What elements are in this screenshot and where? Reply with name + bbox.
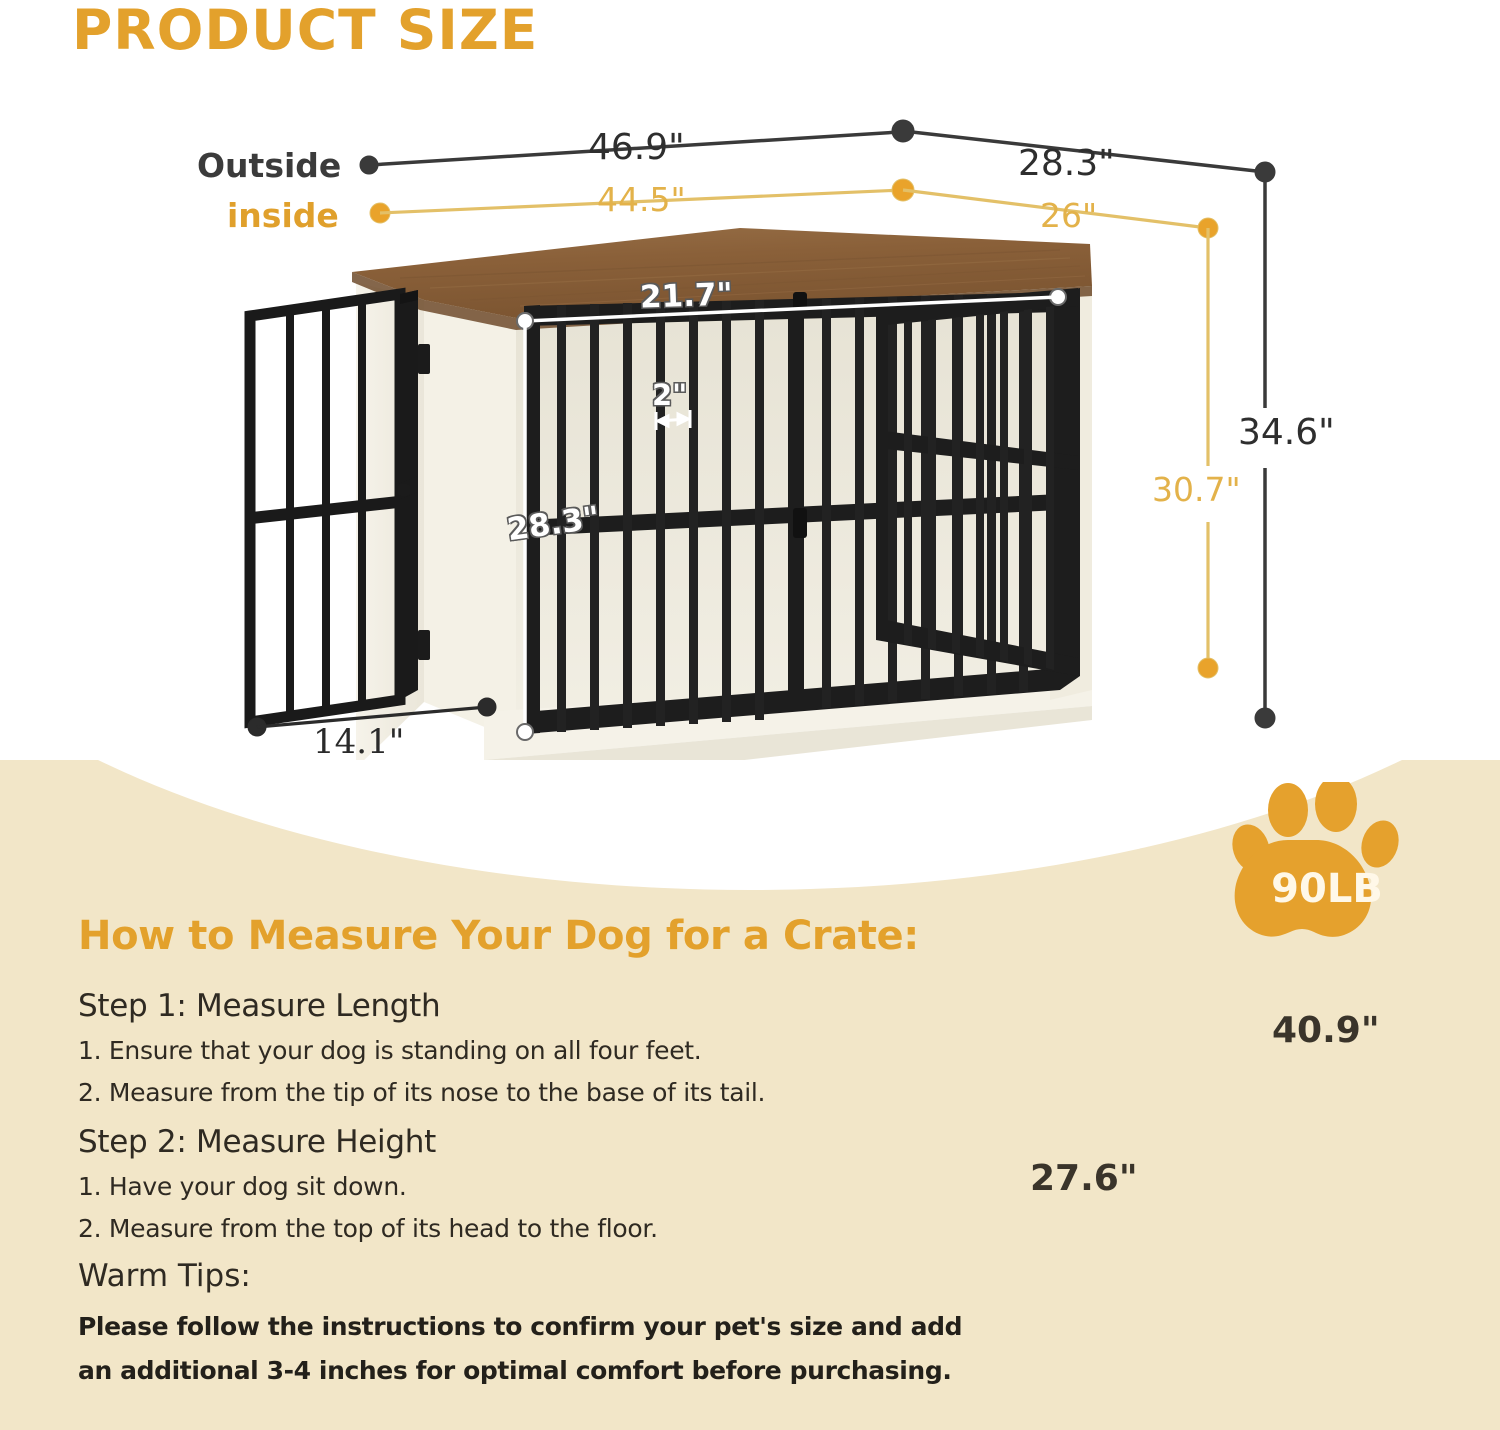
dim-inside-depth: 26" — [1040, 196, 1097, 235]
dim-door-panel-width: 21.7" — [639, 276, 733, 315]
dimension-lines-inside — [370, 179, 1218, 678]
legend-outside-label: Outside — [197, 146, 341, 185]
weight-capacity-badge: 90LB — [1232, 782, 1422, 942]
weight-capacity-label: 90LB — [1232, 866, 1422, 912]
dim-inside-height: 30.7" — [1152, 470, 1241, 509]
crate-front-door-bars — [524, 292, 1060, 734]
dim-door-panel-height: 28.3" — [505, 500, 602, 549]
crate-side-panel-bars — [876, 288, 1080, 690]
warm-tips-title: Warm Tips: — [78, 1258, 251, 1294]
step-1-line-2: 2. Measure from the tip of its nose to t… — [78, 1078, 765, 1107]
step-2-line-1: 1. Have your dog sit down. — [78, 1172, 407, 1201]
warm-tips-line-1: Please follow the instructions to confir… — [78, 1312, 962, 1341]
measure-guide-heading: How to Measure Your Dog for a Crate: — [78, 913, 919, 959]
step-2-title: Step 2: Measure Height — [78, 1124, 436, 1160]
crate-open-door — [250, 290, 430, 722]
dimension-lines-interior — [517, 289, 1066, 740]
dog-length-label: 40.9" — [1272, 1010, 1380, 1051]
step-1-line-1: 1. Ensure that your dog is standing on a… — [78, 1036, 701, 1065]
warm-tips-line-2: an additional 3-4 inches for optimal com… — [78, 1356, 951, 1385]
dog-height-label: 27.6" — [1030, 1158, 1138, 1199]
dim-bar-spacing: 2" — [652, 378, 687, 412]
dimension-lines-outside — [360, 120, 1275, 728]
dim-outside-depth: 28.3" — [1018, 143, 1115, 184]
crate-body — [356, 270, 1092, 800]
page-title: PRODUCT SIZE — [72, 0, 538, 62]
product-size-infographic: PRODUCT SIZE Outside inside — [0, 0, 1500, 1430]
dim-side-door-width: 14.1" — [313, 722, 404, 762]
dim-outside-width: 46.9" — [588, 127, 685, 168]
legend-inside-label: inside — [227, 196, 339, 235]
step-1-title: Step 1: Measure Length — [78, 988, 440, 1024]
step-2-line-2: 2. Measure from the top of its head to t… — [78, 1214, 658, 1243]
paw-print-icon — [1232, 782, 1422, 942]
dim-outside-height: 34.6" — [1238, 412, 1335, 453]
dim-inside-width: 44.5" — [597, 180, 686, 219]
